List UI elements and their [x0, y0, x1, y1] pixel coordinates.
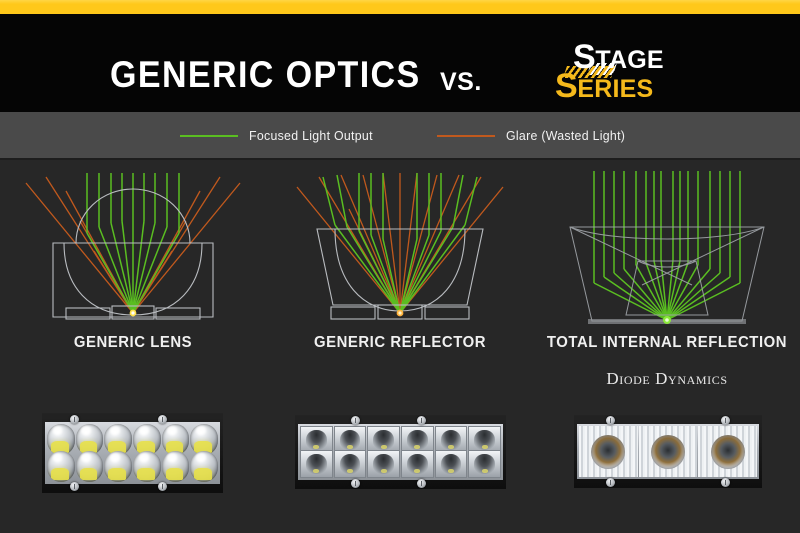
dome-lens	[162, 451, 190, 482]
top-accent-bar	[0, 0, 800, 14]
mounting-screw	[70, 482, 79, 491]
dome-lens	[47, 451, 75, 482]
legend-label-focused: Focused Light Output	[249, 128, 373, 143]
mounting-screw	[351, 416, 360, 425]
caption-tir-optic: TOTAL INTERNAL REFLECTION	[543, 334, 790, 352]
column-total-internal-reflection: TOTAL INTERNAL REFLECTION Diode Dynamics	[534, 160, 800, 533]
reflector-cup	[367, 450, 400, 478]
generic-reflector-raytrace	[275, 165, 525, 335]
brand-name-diode-dynamics: Diode Dynamics	[534, 369, 800, 389]
mounting-screw	[606, 478, 615, 487]
tir-optic-raytrace	[542, 165, 792, 335]
diagram-generic-lens	[0, 165, 266, 335]
legend-item-focused: Focused Light Output	[180, 128, 379, 143]
mounting-screw	[417, 416, 426, 425]
comparison-area: GENERIC LENS	[0, 160, 800, 533]
header-vs-label: VS.	[440, 68, 482, 97]
diagram-tir-optic	[534, 165, 800, 335]
reflector-cup	[468, 450, 501, 478]
caption-generic-lens: GENERIC LENS	[9, 334, 256, 352]
optic-outline-tir	[570, 227, 764, 324]
bar-lens-frame	[577, 424, 759, 479]
tir-row	[579, 426, 757, 477]
dome-lens	[133, 451, 161, 482]
column-generic-lens: GENERIC LENS	[0, 160, 266, 533]
reflector-cup	[300, 450, 333, 478]
led-source-core	[131, 311, 134, 314]
tir-optic-lens	[698, 426, 757, 477]
reflector-row-bottom	[300, 450, 501, 478]
top-accent-sheen	[0, 0, 800, 4]
bar-lens-frame	[45, 422, 220, 484]
dome-lens	[190, 451, 218, 482]
photo-stage-series-bar	[574, 415, 762, 488]
logo-series-rest: ERIES	[577, 75, 653, 103]
mounting-screw	[351, 479, 360, 488]
tir-optic-lens	[579, 426, 638, 477]
legend-swatch-focused	[180, 135, 238, 137]
reflector-cup	[334, 450, 367, 478]
mounting-screw	[158, 482, 167, 491]
led-source-core	[398, 311, 401, 314]
photo-generic-reflector-bar	[295, 415, 506, 489]
stage-series-logo: STAGE SERIES	[545, 40, 715, 106]
mounting-screw	[721, 478, 730, 487]
photo-generic-lens-bar	[42, 413, 223, 493]
bar-lens-frame	[298, 424, 503, 480]
logo-stage-rest: TAGE	[595, 46, 663, 74]
legend-item-glare: Glare (Wasted Light)	[437, 128, 631, 143]
legend-swatch-glare	[437, 135, 495, 137]
reflector-cup	[435, 450, 468, 478]
mounting-screw	[417, 479, 426, 488]
generic-lens-raytrace	[8, 165, 258, 335]
diagram-generic-reflector	[267, 165, 533, 335]
mounting-screw	[158, 415, 167, 424]
mounting-screw	[606, 416, 615, 425]
lens-row-bottom	[47, 451, 218, 482]
logo-series-initial: S	[555, 67, 577, 105]
mounting-screw	[70, 415, 79, 424]
header-banner: GENERIC OPTICS VS. STAGE SERIES	[0, 14, 800, 112]
legend-label-glare: Glare (Wasted Light)	[506, 128, 625, 143]
focused-rays-group	[594, 171, 740, 320]
legend-bar: Focused Light Output Glare (Wasted Light…	[0, 112, 800, 160]
infographic-root: GENERIC OPTICS VS. STAGE SERIES Focused …	[0, 0, 800, 533]
led-source-core	[665, 318, 669, 322]
mounting-screw	[721, 416, 730, 425]
tir-optic-lens	[639, 426, 698, 477]
column-generic-reflector: GENERIC REFLECTOR	[267, 160, 533, 533]
dome-lens	[76, 451, 104, 482]
logo-series-text: SERIES	[555, 71, 653, 104]
reflector-cup	[401, 450, 434, 478]
header-left-title: GENERIC OPTICS	[110, 54, 421, 96]
caption-generic-reflector: GENERIC REFLECTOR	[276, 334, 523, 352]
dome-lens	[104, 451, 132, 482]
